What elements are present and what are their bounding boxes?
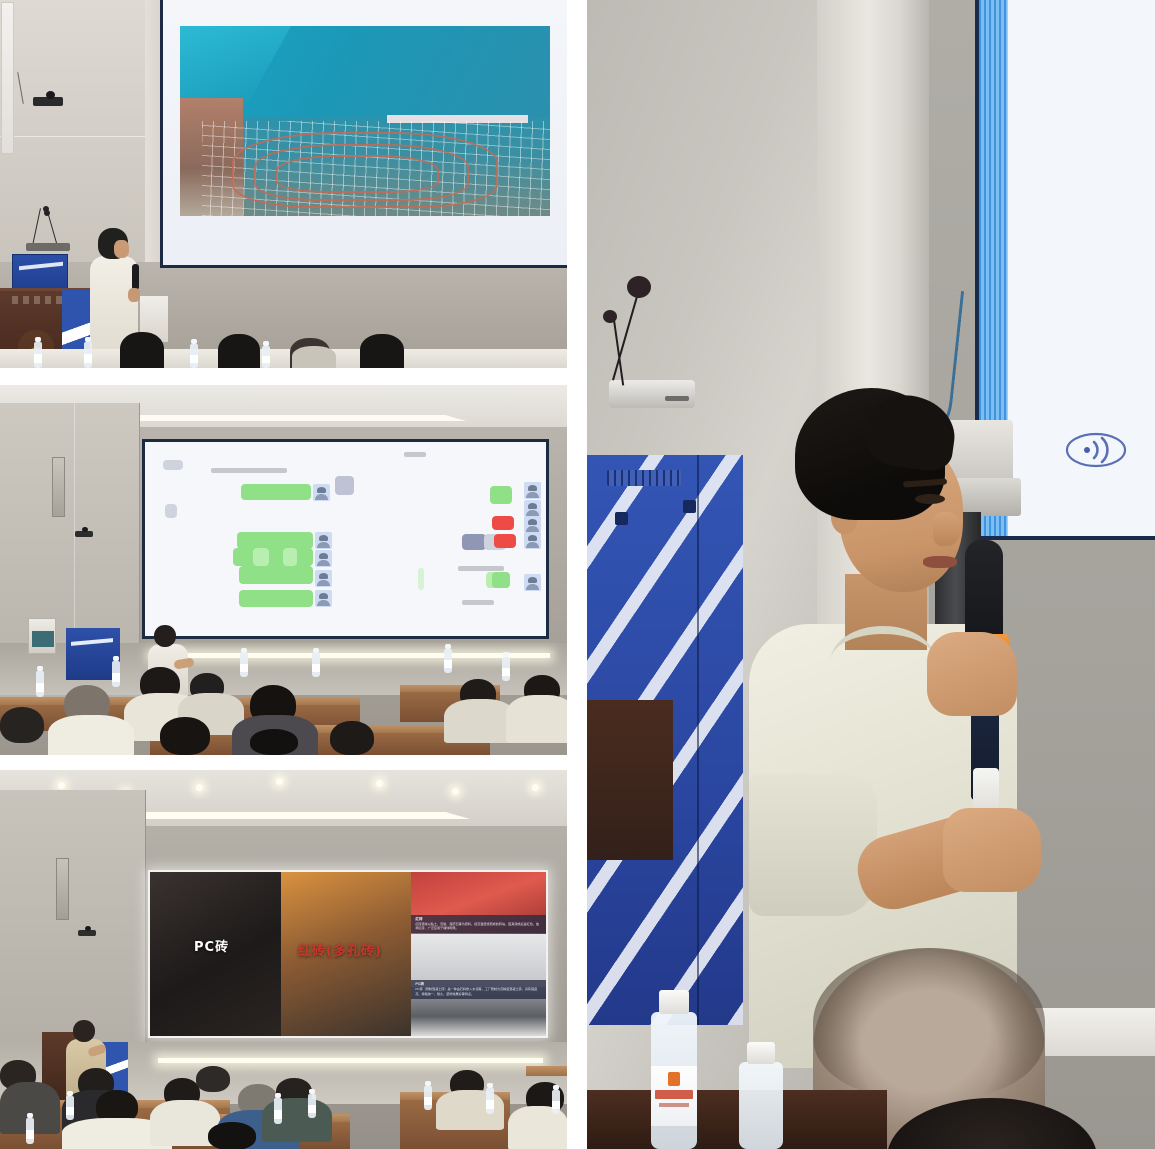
wall-camera-icon (78, 930, 96, 936)
speaker-mouth (923, 556, 957, 568)
audience-head (0, 707, 44, 743)
red-envelope-badge (494, 534, 516, 548)
chat-timestamp (211, 468, 287, 473)
water-bottle (274, 1098, 282, 1124)
chat-avatar (524, 500, 541, 517)
foreground-desk (587, 1090, 887, 1149)
ceiling-downlight (196, 784, 203, 791)
speaker-nose (933, 512, 961, 546)
cabinet-vent (607, 470, 681, 486)
chat-avatar (524, 482, 541, 499)
chat-avatar (524, 574, 541, 591)
chat-timestamp (462, 600, 494, 605)
slide-caption-red-brick: 红砖 红砖通常以粘土、页岩、煤矸石等为原料，经高温焙烧而成的砖块，因其烧成后呈红… (411, 915, 546, 933)
audience-head (160, 717, 210, 755)
audience-head (120, 332, 164, 368)
water-bottle (26, 1118, 34, 1144)
chat-bubble (233, 548, 313, 566)
bottle-cap (659, 990, 689, 1014)
microphone-head-icon (603, 310, 617, 323)
cabinet-lock-icon (683, 500, 696, 513)
water-bottle (84, 342, 92, 368)
handheld-microphone (965, 540, 1003, 644)
speaker-hand-upper (927, 632, 1017, 716)
ceiling-downlight (276, 778, 283, 785)
wall-camera-icon (75, 531, 93, 537)
cabinet-seam (697, 455, 699, 1025)
seated-person-hair (813, 948, 1045, 1098)
wall-panel-left (0, 0, 150, 262)
chat-bubble (241, 484, 311, 500)
water-bottle (739, 1062, 783, 1149)
slide-image-detail-column: 红砖 红砖通常以粘土、页岩、煤矸石等为原料，经高温焙烧而成的砖块，因其烧成后呈红… (411, 872, 546, 1036)
broadcast-icon (1065, 430, 1127, 470)
projection-screen (163, 0, 567, 265)
bottle-brand-text (655, 1090, 693, 1099)
presenter-head (73, 1020, 95, 1042)
presenter-hand (128, 288, 140, 302)
water-bottle (486, 1088, 494, 1114)
bottle-subtext (659, 1103, 689, 1107)
cabinet-lock-icon (615, 512, 628, 525)
chat-bubble (239, 590, 313, 607)
wall-speaker (52, 457, 65, 517)
water-bottle (262, 346, 270, 368)
panel-gap (0, 368, 567, 385)
desk-top (526, 1066, 567, 1076)
audience-head (218, 334, 260, 368)
wall-speaker (56, 858, 69, 920)
water-bottle (112, 661, 120, 687)
chat-bubble-highlight (253, 548, 269, 566)
ceiling-downlight (58, 782, 65, 789)
water-bottle (34, 342, 42, 368)
led-video-wall-frame: 红砖 红砖通常以粘土、页岩、煤矸石等为原料，经高温焙烧而成的砖块，因其烧成后呈红… (148, 870, 548, 1038)
slide-label-pc-brick: PC砖 (194, 936, 229, 955)
projection-screen-frame (160, 0, 567, 268)
water-bottle (66, 1096, 74, 1120)
wall-camera-icon (33, 97, 63, 106)
led-video-wall (145, 442, 546, 636)
water-bottle (552, 1090, 560, 1114)
wechat-chat-right (346, 442, 547, 636)
bottle-cap (747, 1042, 775, 1064)
handheld-microphone (132, 264, 139, 290)
chat-avatar (315, 570, 332, 587)
presenter-face (114, 240, 129, 258)
photo-panel-speaker-portrait: Close-up portrait of a man in a light be… (587, 0, 1155, 1149)
stage-led-strip (158, 1058, 543, 1063)
water-bottle (312, 653, 320, 677)
chat-avatar (313, 484, 330, 501)
photo-panel-presenter-projection: Presenter at lectern speaking into a han… (0, 0, 567, 368)
wooden-desk-dark (587, 700, 673, 860)
chat-bubble (490, 486, 512, 504)
presenter-head (154, 625, 176, 647)
chat-bubble (492, 572, 510, 588)
chat-avatar (524, 532, 541, 549)
equipment-cables (26, 243, 70, 251)
chat-avatar (315, 590, 332, 607)
speaker-sleeve (749, 774, 877, 916)
audience-head (208, 1122, 256, 1149)
ceiling-cove-light (116, 415, 466, 421)
chat-avatar (524, 516, 541, 533)
slide-photo-floor-heating (180, 26, 550, 216)
conference-microphone-assembly (609, 262, 673, 394)
water-bottle (308, 1094, 316, 1118)
chat-avatar (315, 532, 332, 549)
water-bottle (444, 649, 452, 673)
photo-collage: Presenter at lectern speaking into a han… (0, 0, 1155, 1149)
chat-bubble (239, 566, 313, 584)
panel-gap (0, 755, 567, 770)
audience-shoulders (262, 1098, 332, 1142)
stage-led-strip (150, 653, 550, 658)
led-video-wall: 红砖 红砖通常以粘土、页岩、煤矸石等为原料，经高温焙烧而成的砖块，因其烧成后呈红… (150, 872, 546, 1036)
water-bottle (502, 657, 510, 681)
speaker-hand-lower (943, 808, 1041, 892)
microphone-head-icon (627, 276, 651, 298)
wall-poster (1, 2, 14, 154)
photo-panel-wechat-screen: Presenter standing beside a large LED vi… (0, 385, 567, 755)
panel-gap-vertical (567, 0, 587, 1149)
chat-avatar (315, 550, 332, 567)
audience-head (330, 721, 374, 755)
wechat-chat-left (145, 442, 346, 636)
photo-panel-brick-slide: 红砖 红砖通常以粘土、页岩、煤矸石等为原料，经高温焙烧而成的砖块，因其烧成后呈红… (0, 770, 567, 1149)
chat-side-thumb (163, 460, 183, 470)
ceiling-downlight (376, 780, 383, 787)
chat-side-thumb (165, 504, 177, 518)
wall-monitor (28, 618, 56, 654)
water-bottle (240, 653, 248, 677)
audience-head (250, 729, 298, 755)
audience-head-grey (292, 346, 336, 368)
led-video-wall-frame (142, 439, 549, 639)
wall-seam (0, 136, 150, 137)
chat-bubble-grey (462, 534, 486, 550)
audience-head (360, 334, 404, 368)
slide-caption-body: 红砖通常以粘土、页岩、煤矸石等为原料，经高温焙烧而成的砖块，因其烧成后呈红色，故… (415, 922, 542, 931)
bottle-logo-icon (668, 1072, 680, 1086)
speaker-eye (915, 494, 945, 504)
audience-shoulders (48, 715, 134, 755)
water-bottle (190, 344, 198, 368)
ceiling-downlight (452, 788, 459, 795)
water-bottle (651, 1012, 697, 1149)
ceiling-downlight (532, 784, 539, 791)
audience-shoulders (506, 695, 567, 743)
bottle-label (651, 1066, 697, 1126)
chat-timestamp (458, 566, 504, 571)
slide-heating-pipe (276, 155, 439, 193)
chat-bubble (237, 532, 313, 549)
microphone-head-icon (44, 210, 50, 216)
red-envelope-badge (492, 516, 514, 530)
slide-caption-pc-brick: PC砖 PC砖（预制混凝土砖）是一种由石料掺入水泥等，工厂预制为高精度混凝土砖，… (411, 980, 546, 998)
chat-bubble-highlight (283, 548, 297, 566)
slide-label-red-brick: 红砖(多孔砖) (298, 940, 382, 959)
chat-timestamp (404, 452, 426, 457)
water-bottle (36, 671, 44, 697)
audience-head (196, 1066, 230, 1092)
chat-side-thumb (418, 568, 424, 590)
ceiling-cove-light (120, 812, 470, 819)
water-bottle (424, 1086, 432, 1110)
slide-caption-body: PC砖（预制混凝土砖）是一种由石料掺入水泥等，工厂预制为高精度混凝土砖，具有强度… (415, 987, 542, 996)
